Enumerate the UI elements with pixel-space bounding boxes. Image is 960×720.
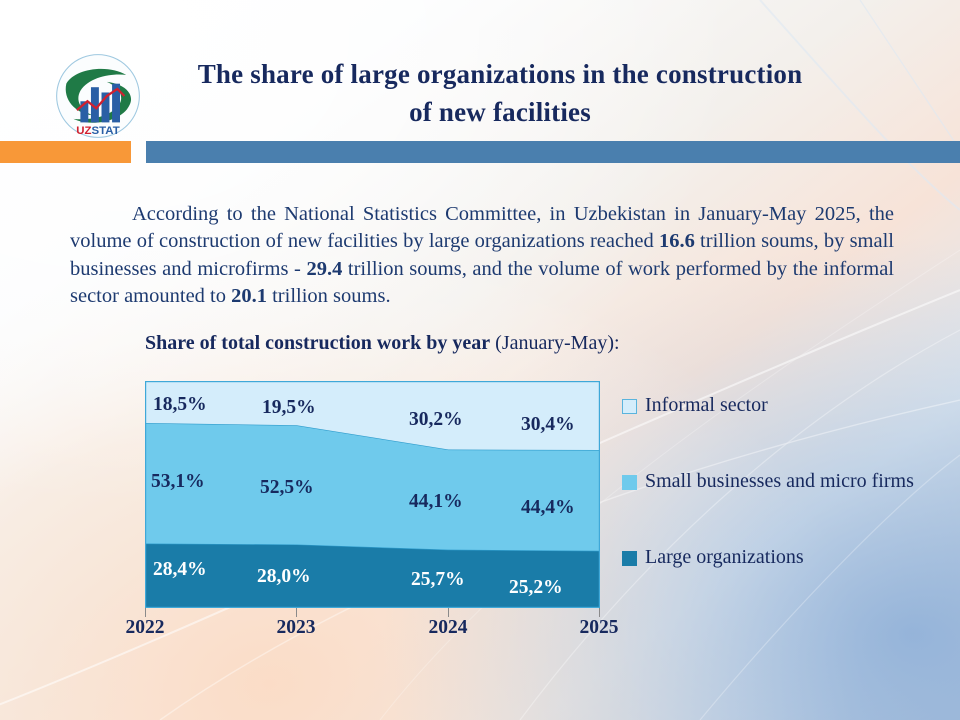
legend-label-large-organizations: Large organizations xyxy=(645,544,804,570)
axis-tick-2022 xyxy=(145,608,146,617)
x-tick-label-2024: 2024 xyxy=(413,617,483,639)
page-title: The share of large organizations in the … xyxy=(150,55,850,131)
legend-item-large-organizations[interactable]: Large organizations xyxy=(622,544,804,570)
x-tick-label-2022: 2022 xyxy=(110,617,180,639)
chart-plot-area xyxy=(145,381,600,608)
value-large-organizations: 16.6 xyxy=(659,230,695,252)
paragraph-part-4: trillion soums. xyxy=(267,285,391,307)
legend-item-small-businesses[interactable]: Small businesses and micro firms xyxy=(622,468,914,494)
axis-tick-2025 xyxy=(599,608,600,617)
accent-bar-blue xyxy=(146,141,960,163)
svg-text:UZSTAT: UZSTAT xyxy=(76,125,119,137)
chart-x-tick-labels: 2022 2023 2024 2025 xyxy=(100,617,660,647)
uzstat-logo: UZSTAT xyxy=(54,52,142,140)
axis-tick-2023 xyxy=(296,608,297,617)
axis-tick-2024 xyxy=(448,608,449,617)
page-title-line-1: The share of large organizations in the … xyxy=(150,55,850,93)
legend-swatch-large-organizations-icon xyxy=(622,551,637,566)
x-tick-label-2023: 2023 xyxy=(261,617,331,639)
accent-bar-orange xyxy=(0,141,131,163)
stacked-area-chart: 18,5% 19,5% 30,2% 30,4% 53,1% 52,5% 44,1… xyxy=(145,381,600,608)
legend-item-informal-sector[interactable]: Informal sector xyxy=(622,392,768,418)
legend-label-small-businesses: Small businesses and micro firms xyxy=(645,468,914,494)
legend-label-informal-sector: Informal sector xyxy=(645,392,768,418)
page-title-line-2: of new facilities xyxy=(150,93,850,131)
chart-heading-strong: Share of total construction work by year xyxy=(145,332,490,354)
chart-heading-rest: (January-May): xyxy=(490,332,619,354)
slide-header: UZSTAT The share of large organizations … xyxy=(0,0,960,168)
value-informal-sector: 20.1 xyxy=(231,285,267,307)
legend-swatch-small-businesses-icon xyxy=(622,475,637,490)
x-tick-label-2025: 2025 xyxy=(564,617,634,639)
intro-paragraph: According to the National Statistics Com… xyxy=(70,201,894,311)
value-small-businesses: 29.4 xyxy=(306,258,342,280)
legend-swatch-informal-icon xyxy=(622,399,637,414)
chart-heading: Share of total construction work by year… xyxy=(145,330,845,356)
area-band-large-organizations xyxy=(145,544,600,608)
